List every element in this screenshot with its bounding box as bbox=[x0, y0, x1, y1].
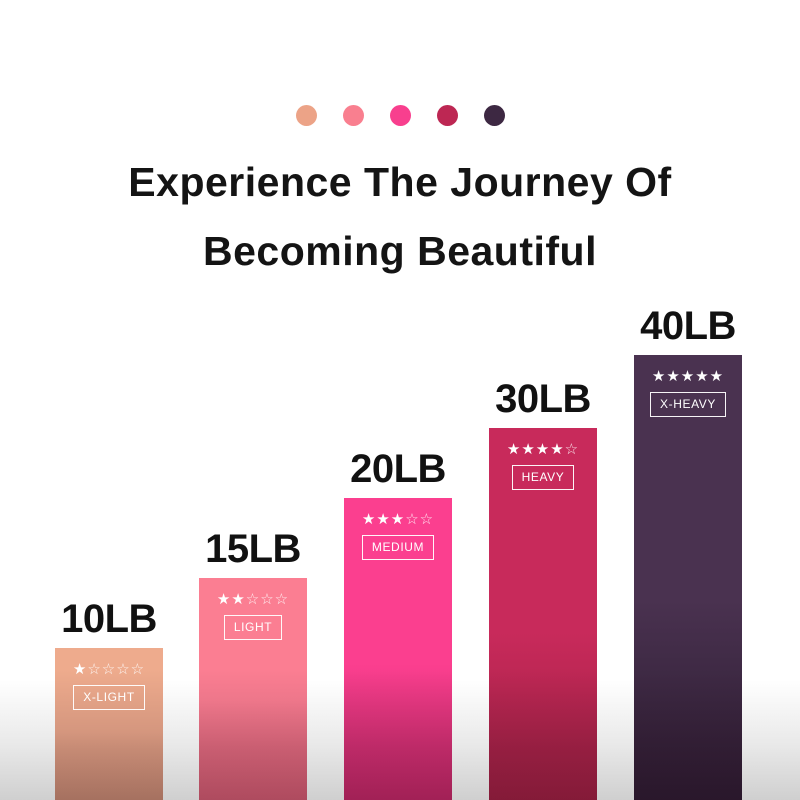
bar-20lb-rating-block: ★★★☆☆MEDIUM bbox=[344, 512, 452, 560]
bar-20lb[interactable]: 20LB★★★☆☆MEDIUM bbox=[344, 498, 452, 800]
bar-40lb-fill bbox=[634, 355, 742, 800]
bar-15lb-level-badge: LIGHT bbox=[224, 615, 282, 640]
resistance-band-bar-chart: 10LB★☆☆☆☆X-LIGHT15LB★★☆☆☆LIGHT20LB★★★☆☆M… bbox=[0, 0, 800, 800]
star-empty-icon: ☆ bbox=[87, 661, 101, 678]
star-filled-icon: ★ bbox=[362, 511, 376, 528]
star-empty-icon: ☆ bbox=[565, 441, 579, 458]
star-empty-icon: ☆ bbox=[102, 661, 116, 678]
bar-40lb-rating-block: ★★★★★X-HEAVY bbox=[634, 369, 742, 417]
star-empty-icon: ☆ bbox=[246, 591, 260, 608]
star-filled-icon: ★ bbox=[695, 368, 709, 385]
star-filled-icon: ★ bbox=[521, 441, 535, 458]
star-empty-icon: ☆ bbox=[420, 511, 434, 528]
star-filled-icon: ★ bbox=[550, 441, 564, 458]
bar-20lb-column: ★★★☆☆MEDIUM bbox=[344, 498, 452, 800]
bar-30lb[interactable]: 30LB★★★★☆HEAVY bbox=[489, 428, 597, 800]
star-filled-icon: ★ bbox=[652, 368, 666, 385]
star-filled-icon: ★ bbox=[73, 661, 87, 678]
star-filled-icon: ★ bbox=[666, 368, 680, 385]
bar-40lb[interactable]: 40LB★★★★★X-HEAVY bbox=[634, 355, 742, 800]
star-filled-icon: ★ bbox=[217, 591, 231, 608]
floor-shading bbox=[597, 680, 634, 800]
star-filled-icon: ★ bbox=[681, 368, 695, 385]
star-empty-icon: ☆ bbox=[260, 591, 274, 608]
floor-shading bbox=[0, 680, 55, 800]
bar-10lb[interactable]: 10LB★☆☆☆☆X-LIGHT bbox=[55, 648, 163, 800]
bar-40lb-value-label: 40LB bbox=[634, 304, 742, 355]
bar-20lb-level-badge: MEDIUM bbox=[362, 535, 434, 560]
bar-30lb-value-label: 30LB bbox=[489, 377, 597, 428]
star-empty-icon: ☆ bbox=[275, 591, 289, 608]
bar-10lb-star-rating: ★☆☆☆☆ bbox=[73, 662, 145, 678]
bar-20lb-value-label: 20LB bbox=[344, 447, 452, 498]
bar-20lb-star-rating: ★★★☆☆ bbox=[362, 512, 434, 528]
bar-30lb-column: ★★★★☆HEAVY bbox=[489, 428, 597, 800]
bar-15lb[interactable]: 15LB★★☆☆☆LIGHT bbox=[199, 578, 307, 800]
floor-shading bbox=[163, 680, 199, 800]
star-filled-icon: ★ bbox=[710, 368, 724, 385]
bar-15lb-rating-block: ★★☆☆☆LIGHT bbox=[199, 592, 307, 640]
promo-graphic-canvas: Experience The Journey Of Becoming Beaut… bbox=[0, 0, 800, 800]
bar-10lb-column: ★☆☆☆☆X-LIGHT bbox=[55, 648, 163, 800]
bar-30lb-level-badge: HEAVY bbox=[512, 465, 575, 490]
bar-10lb-rating-block: ★☆☆☆☆X-LIGHT bbox=[55, 662, 163, 710]
bar-10lb-value-label: 10LB bbox=[55, 597, 163, 648]
bar-15lb-star-rating: ★★☆☆☆ bbox=[217, 592, 289, 608]
star-empty-icon: ☆ bbox=[405, 511, 419, 528]
star-filled-icon: ★ bbox=[507, 441, 521, 458]
bar-40lb-star-rating: ★★★★★ bbox=[652, 369, 724, 385]
bar-15lb-value-label: 15LB bbox=[199, 527, 307, 578]
bar-30lb-rating-block: ★★★★☆HEAVY bbox=[489, 442, 597, 490]
star-filled-icon: ★ bbox=[376, 511, 390, 528]
bar-30lb-star-rating: ★★★★☆ bbox=[507, 442, 579, 458]
floor-shading bbox=[307, 680, 344, 800]
bar-40lb-column: ★★★★★X-HEAVY bbox=[634, 355, 742, 800]
star-empty-icon: ☆ bbox=[116, 661, 130, 678]
bar-10lb-level-badge: X-LIGHT bbox=[73, 685, 145, 710]
star-empty-icon: ☆ bbox=[131, 661, 145, 678]
star-filled-icon: ★ bbox=[231, 591, 245, 608]
star-filled-icon: ★ bbox=[391, 511, 405, 528]
bar-40lb-level-badge: X-HEAVY bbox=[650, 392, 726, 417]
floor-shading bbox=[742, 680, 800, 800]
floor-shading bbox=[452, 680, 489, 800]
star-filled-icon: ★ bbox=[536, 441, 550, 458]
bar-15lb-column: ★★☆☆☆LIGHT bbox=[199, 578, 307, 800]
